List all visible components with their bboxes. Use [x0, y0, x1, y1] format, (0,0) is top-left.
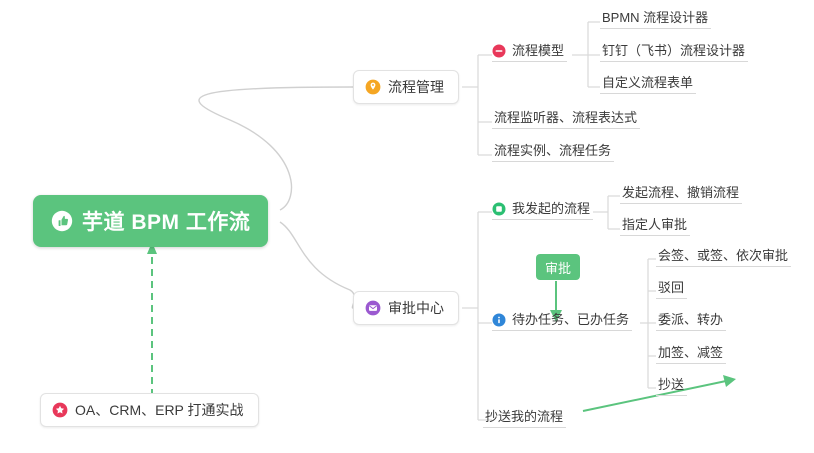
node-label: 会签、或签、依次审批 — [658, 245, 788, 264]
node-delegate-transfer[interactable]: 委派、转办 — [656, 307, 726, 331]
node-listener-expression[interactable]: 流程监听器、流程表达式 — [492, 105, 640, 129]
annotation-label: OA、CRM、ERP 打通实战 — [75, 400, 244, 420]
info-circle-icon — [492, 313, 506, 328]
minus-circle-icon — [492, 44, 506, 59]
node-add-remove-sign[interactable]: 加签、减签 — [656, 340, 726, 364]
node-bpmn-designer[interactable]: BPMN 流程设计器 — [600, 5, 711, 29]
node-label: 委派、转办 — [658, 309, 723, 328]
annotation-approval-tag[interactable]: 审批 — [536, 254, 580, 280]
mindmap-canvas: 芋道 BPM 工作流 流程管理 流程模型 BPMN 流程设计器 钉钉（飞书）流程… — [0, 0, 814, 453]
node-label: 指定人审批 — [622, 214, 687, 233]
node-assigned-approval[interactable]: 指定人审批 — [620, 212, 690, 236]
node-label: 审批中心 — [388, 298, 444, 318]
node-start-cancel-process[interactable]: 发起流程、撤销流程 — [620, 180, 742, 204]
root-label: 芋道 BPM 工作流 — [82, 206, 250, 236]
node-label: 自定义流程表单 — [602, 72, 693, 91]
node-label: 加签、减签 — [658, 342, 723, 361]
play-circle-icon — [492, 202, 506, 217]
node-cc-my-process[interactable]: 抄送我的流程 — [483, 404, 566, 428]
node-label: 流程监听器、流程表达式 — [494, 107, 637, 126]
star-circle-icon — [52, 402, 68, 418]
link-root-to-process-management — [199, 87, 353, 210]
thumbs-up-icon — [51, 210, 73, 232]
root-node[interactable]: 芋道 BPM 工作流 — [33, 195, 268, 247]
node-todo-done-tasks[interactable]: 待办任务、已办任务 — [492, 307, 632, 331]
node-label: BPMN 流程设计器 — [602, 7, 708, 26]
node-label: 钉钉（飞书）流程设计器 — [602, 40, 745, 59]
node-label: 流程管理 — [388, 77, 444, 97]
node-label: 驳回 — [658, 277, 684, 296]
envelope-icon — [365, 300, 381, 316]
annotation-label: 审批 — [545, 258, 571, 277]
node-label: 抄送 — [658, 374, 684, 393]
link-root-to-approval-center — [280, 222, 355, 308]
node-label: 流程实例、流程任务 — [494, 140, 611, 159]
node-custom-form[interactable]: 自定义流程表单 — [600, 70, 696, 94]
node-label: 抄送我的流程 — [485, 406, 563, 425]
node-label: 发起流程、撤销流程 — [622, 182, 739, 201]
node-countersign[interactable]: 会签、或签、依次审批 — [656, 243, 791, 267]
node-label: 流程模型 — [512, 40, 564, 59]
node-approval-center[interactable]: 审批中心 — [353, 291, 459, 325]
node-label: 待办任务、已办任务 — [512, 309, 629, 328]
arrow-cc-link-head — [723, 375, 736, 387]
node-instance-task[interactable]: 流程实例、流程任务 — [492, 138, 614, 162]
node-dingtalk-designer[interactable]: 钉钉（飞书）流程设计器 — [600, 38, 748, 62]
node-label: 我发起的流程 — [512, 198, 590, 217]
location-pin-icon — [365, 79, 381, 95]
node-my-started-process[interactable]: 我发起的流程 — [492, 196, 593, 220]
arrow-cc-link — [583, 381, 726, 411]
annotation-oa-crm-erp[interactable]: OA、CRM、ERP 打通实战 — [40, 393, 259, 427]
node-process-model[interactable]: 流程模型 — [492, 38, 567, 62]
node-cc[interactable]: 抄送 — [656, 372, 687, 396]
node-process-management[interactable]: 流程管理 — [353, 70, 459, 104]
node-reject[interactable]: 驳回 — [656, 275, 687, 299]
